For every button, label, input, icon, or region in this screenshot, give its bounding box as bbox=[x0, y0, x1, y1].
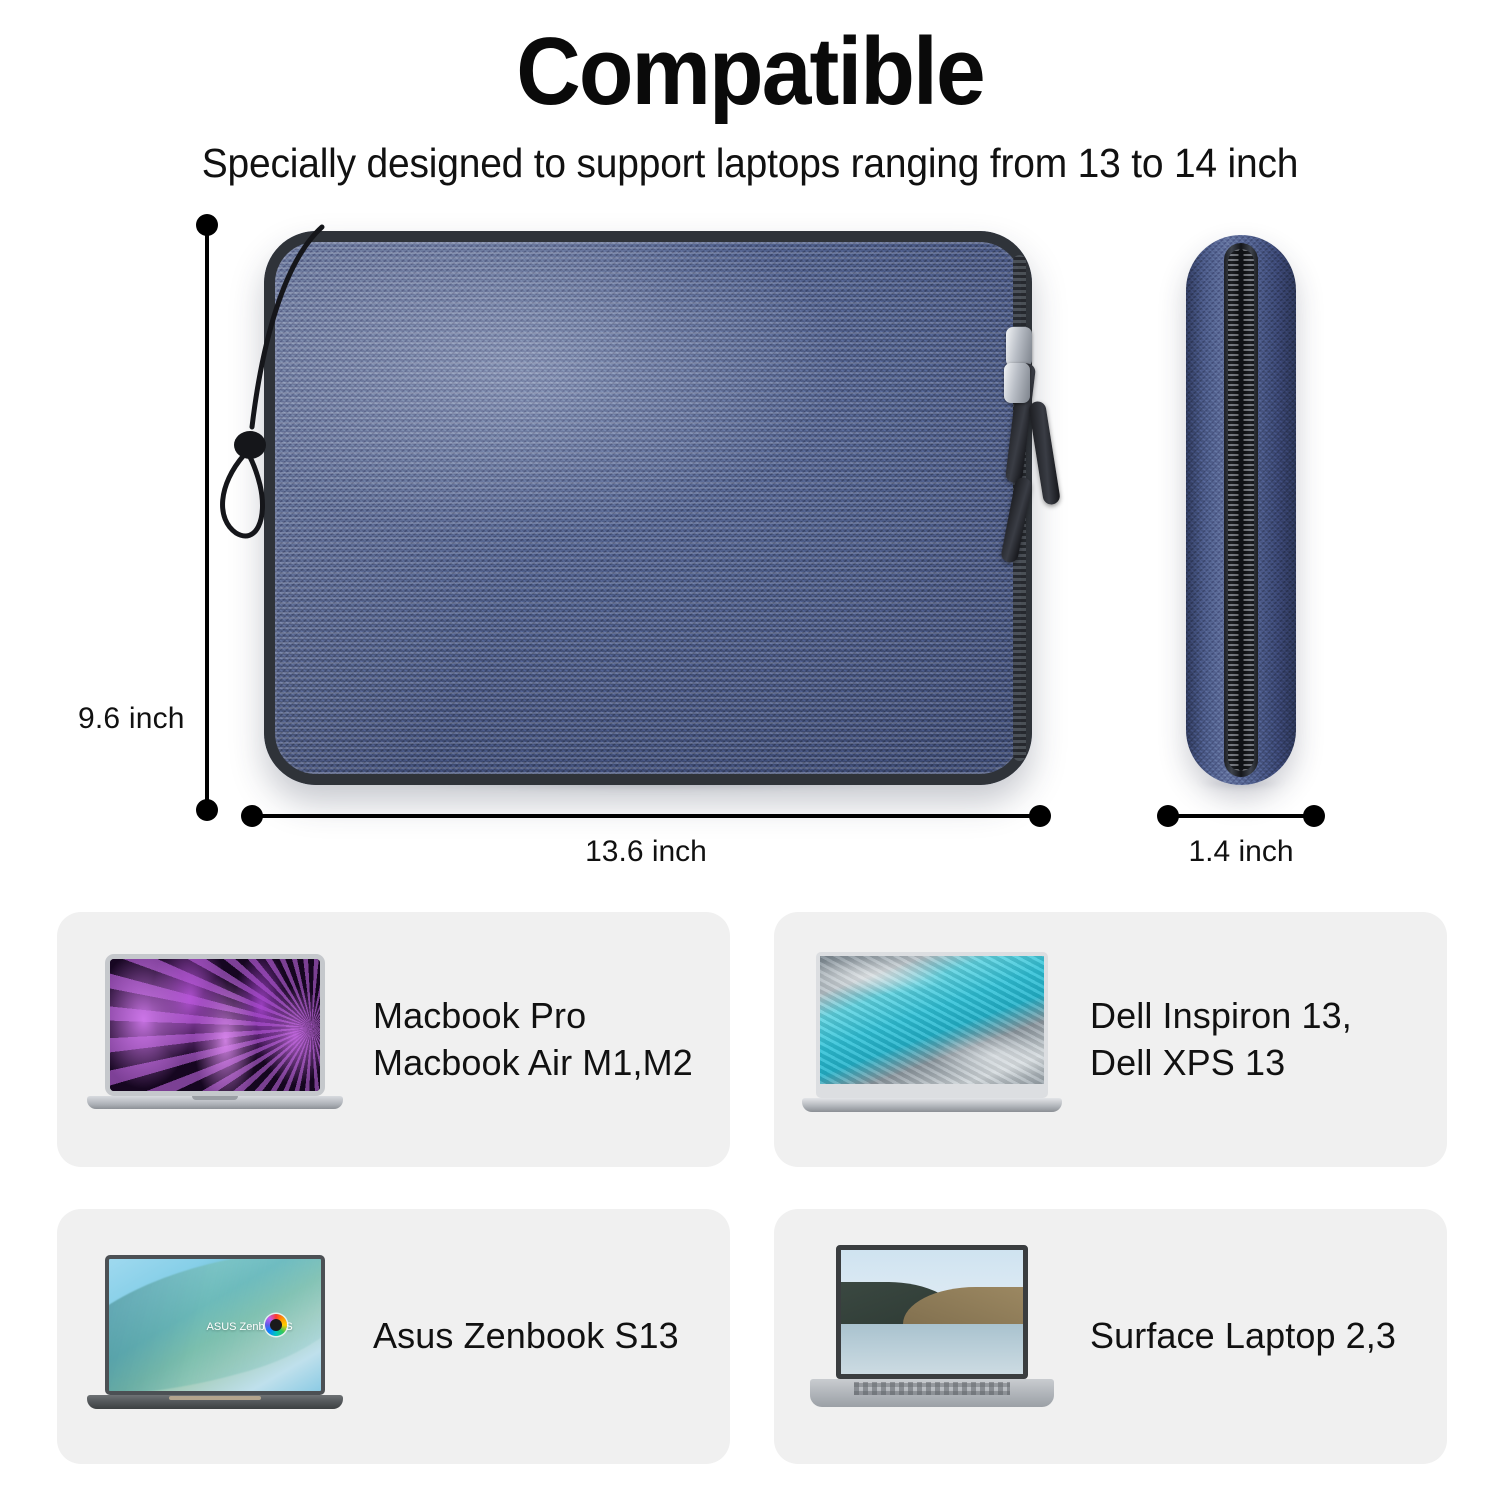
macbook-laptop-image bbox=[79, 940, 351, 1140]
surface-keyboard bbox=[854, 1382, 1010, 1395]
compatibility-card-asus[interactable]: ASUS Zenbook S Asus Zenbook S13 bbox=[57, 1209, 730, 1464]
zipper-slider-top bbox=[1006, 327, 1032, 367]
fabric-highlight bbox=[264, 231, 1032, 785]
surface-screen bbox=[841, 1250, 1023, 1374]
sleeve-front-view bbox=[264, 231, 1032, 785]
height-dimension-label: 9.6 inch bbox=[78, 702, 185, 736]
compatibility-card-grid: Macbook Pro Macbook Air M1,M2 DELL Dell … bbox=[57, 912, 1447, 1464]
zipper-slider-bottom bbox=[1004, 363, 1030, 403]
sleeve-side-view bbox=[1186, 235, 1296, 785]
compatibility-label-asus: Asus Zenbook S13 bbox=[373, 1313, 679, 1360]
compatibility-label-dell: Dell Inspiron 13, Dell XPS 13 bbox=[1090, 993, 1352, 1087]
surface-laptop-image bbox=[796, 1237, 1068, 1437]
compatibility-card-macbook[interactable]: Macbook Pro Macbook Air M1,M2 bbox=[57, 912, 730, 1167]
page-subtitle: Specially designed to support laptops ra… bbox=[38, 140, 1463, 187]
surface-base bbox=[810, 1379, 1054, 1407]
asus-screen: ASUS Zenbook S bbox=[109, 1259, 321, 1391]
side-zipper-slit bbox=[1239, 249, 1244, 771]
dell-laptop-image: DELL bbox=[796, 940, 1068, 1140]
surface-wallpaper-lake bbox=[841, 1324, 1023, 1374]
product-infographic: Compatible Specially designed to support… bbox=[0, 0, 1500, 1500]
compatibility-card-dell[interactable]: DELL Dell Inspiron 13, Dell XPS 13 bbox=[774, 912, 1447, 1167]
asus-laptop-image: ASUS Zenbook S bbox=[79, 1237, 351, 1437]
macbook-trackpad-notch bbox=[192, 1096, 238, 1100]
width-dimension-line bbox=[252, 814, 1040, 818]
header: Compatible Specially designed to support… bbox=[0, 0, 1500, 187]
compatibility-label-surface: Surface Laptop 2,3 bbox=[1090, 1313, 1396, 1360]
dell-lid: DELL bbox=[816, 952, 1048, 1098]
zipper-pull-tab-bottom bbox=[1028, 400, 1061, 505]
page-title: Compatible bbox=[53, 18, 1448, 126]
macbook-screen bbox=[110, 959, 320, 1091]
thickness-dimension-label: 1.4 inch bbox=[1148, 835, 1334, 869]
compatibility-card-surface[interactable]: Surface Laptop 2,3 bbox=[774, 1209, 1447, 1464]
width-dimension-label: 13.6 inch bbox=[252, 835, 1040, 869]
wrist-strap-cord bbox=[206, 223, 336, 543]
asus-deck-strip bbox=[169, 1396, 261, 1400]
surface-lid bbox=[836, 1245, 1028, 1379]
asus-lid: ASUS Zenbook S bbox=[105, 1255, 325, 1395]
dell-screen bbox=[820, 956, 1044, 1084]
compatibility-label-macbook: Macbook Pro Macbook Air M1,M2 bbox=[373, 993, 693, 1087]
thickness-dimension-line bbox=[1168, 814, 1314, 818]
dell-base bbox=[802, 1098, 1062, 1112]
macbook-lid bbox=[105, 954, 325, 1096]
asus-base bbox=[87, 1395, 343, 1409]
dell-logo: DELL bbox=[920, 1086, 945, 1095]
macbook-base bbox=[87, 1096, 343, 1109]
hero-dimension-diagram: 9.6 inch bbox=[0, 205, 1500, 880]
oled-badge-icon bbox=[265, 1314, 287, 1336]
